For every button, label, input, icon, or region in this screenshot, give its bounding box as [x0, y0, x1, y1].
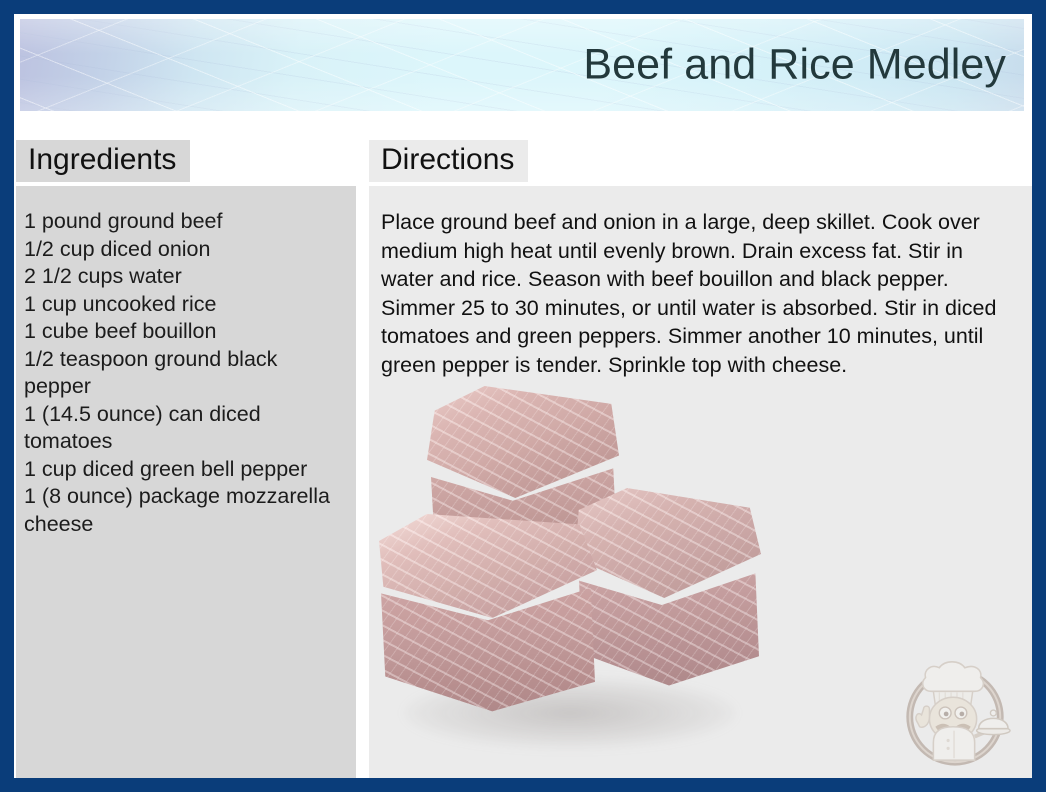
list-item: 1 pound ground beef [24, 208, 346, 236]
raw-beef-cubes-photo [379, 378, 799, 778]
list-item: 1/2 cup diced onion [24, 236, 346, 264]
page-title: Beef and Rice Medley [583, 42, 1006, 87]
directions-panel: Place ground beef and onion in a large, … [369, 186, 1032, 778]
list-item: 1 cube beef bouillon [24, 318, 346, 346]
recipe-card-inner: Beef and Rice Medley Ingredients Directi… [14, 14, 1032, 778]
ingredients-panel: 1 pound ground beef 1/2 cup diced onion … [16, 186, 356, 778]
list-item: 2 1/2 cups water [24, 263, 346, 291]
title-banner: Beef and Rice Medley [20, 19, 1024, 111]
directions-text: Place ground beef and onion in a large, … [369, 186, 1032, 379]
list-item: 1 cup uncooked rice [24, 291, 346, 319]
chef-mascot-logo [896, 652, 1014, 770]
tab-directions: Directions [369, 140, 528, 182]
list-item: 1 (14.5 ounce) can diced tomatoes [24, 401, 346, 456]
list-item: 1 cup diced green bell pepper [24, 456, 346, 484]
beef-cube-front [379, 514, 597, 714]
tab-ingredients: Ingredients [16, 140, 190, 182]
beef-cube-right [575, 488, 761, 688]
recipe-card: Beef and Rice Medley Ingredients Directi… [0, 0, 1046, 792]
list-item: 1/2 teaspoon ground black pepper [24, 346, 346, 401]
list-item: 1 (8 ounce) package mozzarella cheese [24, 483, 346, 538]
ingredient-list: 1 pound ground beef 1/2 cup diced onion … [16, 186, 356, 538]
